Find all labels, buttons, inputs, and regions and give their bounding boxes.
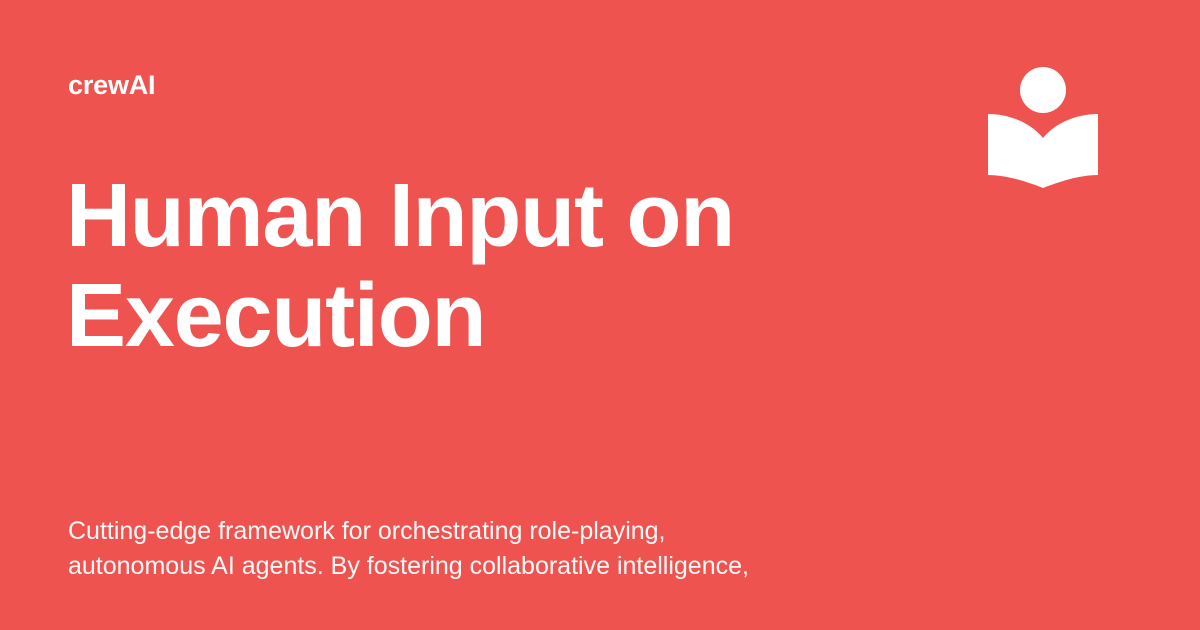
page-description: Cutting-edge framework for orchestrating… [68,514,898,584]
brand-name: crewAI [68,72,155,99]
open-book-with-reader-icon [986,64,1100,192]
page-title: Human Input on Execution [66,166,926,366]
og-card: crewAI Human Input on Execution Cutting-… [0,0,1200,630]
